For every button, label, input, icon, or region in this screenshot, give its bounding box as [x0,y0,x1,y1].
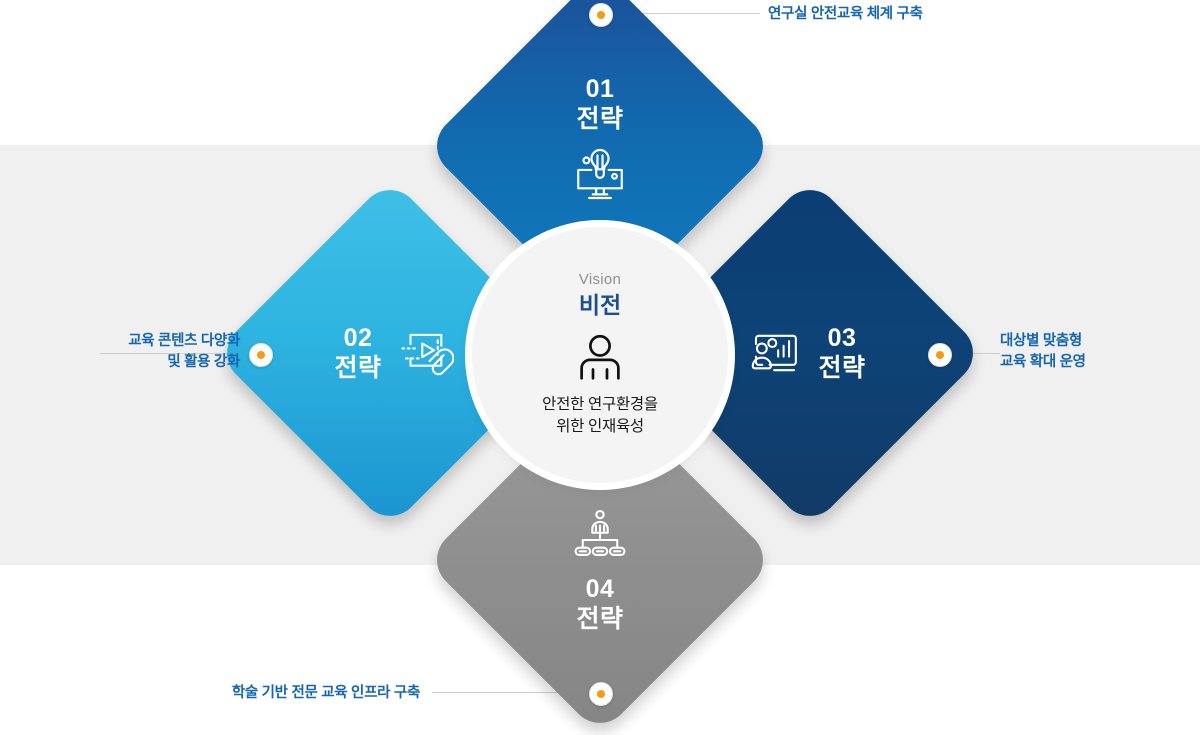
strategy-diagram: 01 전략 [0,0,1200,708]
vision-description: 안전한 연구환경을 위한 인재육성 [542,394,658,438]
marker-dot [597,690,605,698]
org-chart-icon [571,506,629,564]
vision-center[interactable]: Vision 비전 안전한 연구환경을 위한 인재육성 [472,227,728,483]
node-label-02: 교육 콘텐츠 다양화 및 활용 강화 [10,331,240,373]
video-attachment-icon [396,324,454,382]
vision-eyebrow: Vision [579,272,621,287]
marker-dot [257,351,265,359]
person-chart-icon [746,324,804,382]
node-04-number: 04 전략 [576,574,623,635]
node-03-number: 03 전략 [818,323,865,384]
vision-heading: 비전 [579,294,621,317]
node-marker-03[interactable] [928,343,952,367]
node-label-01: 연구실 안전교육 체계 구축 [768,4,923,25]
node-01-number: 01 전략 [576,74,623,135]
marker-dot [597,11,605,19]
marker-dot [936,351,944,359]
node-label-03: 대상별 맞춤형 교육 확대 운영 [1000,331,1190,373]
monitor-lightbulb-icon [571,145,629,203]
node-02-number: 02 전략 [334,323,381,384]
node-marker-01[interactable] [589,3,613,27]
node-label-04: 학술 기반 전문 교육 인프라 구축 [120,683,420,704]
node-marker-04[interactable] [589,682,613,706]
node-marker-02[interactable] [249,343,273,367]
person-icon [572,331,628,387]
